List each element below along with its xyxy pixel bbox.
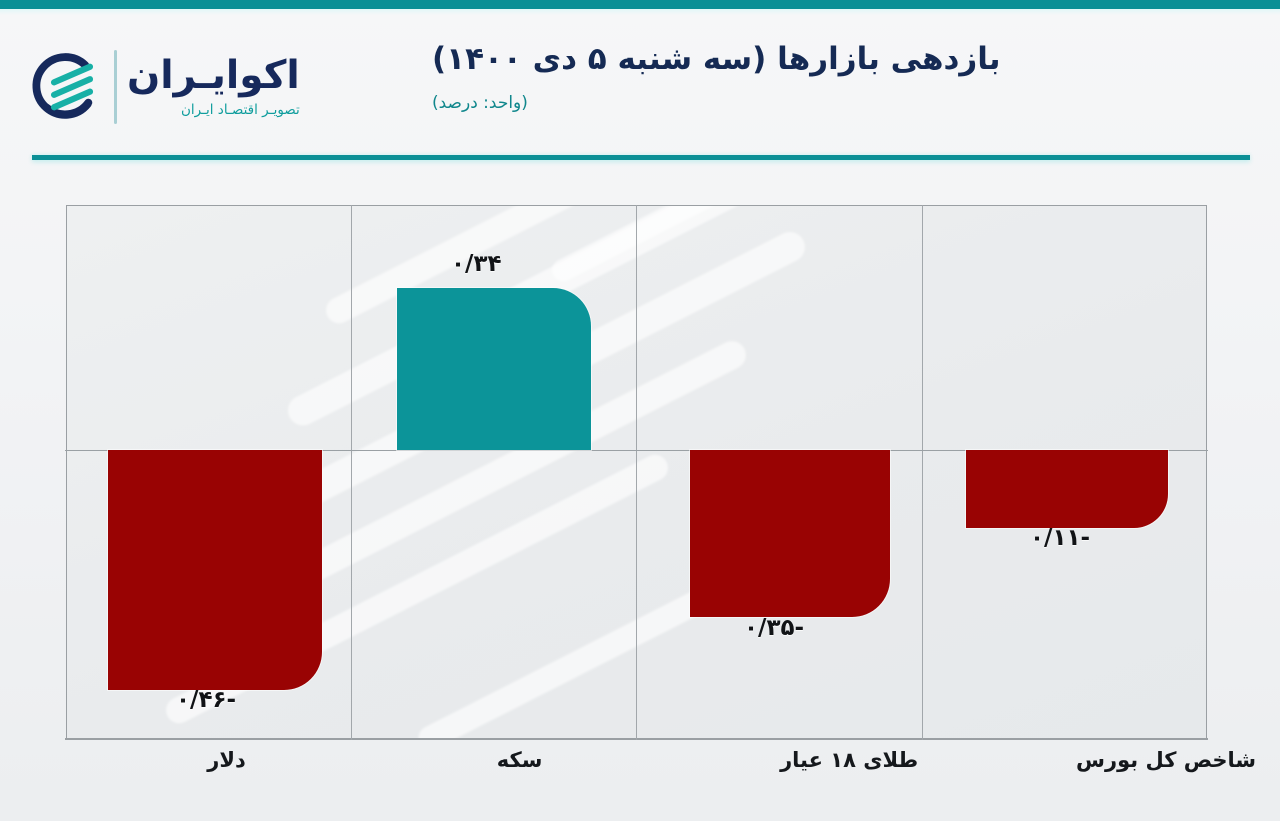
infographic-page: اکوایـران تصویـر اقتصـاد ایـران بازدهی ب… [0, 0, 1280, 821]
logo-title: اکوایـران [127, 56, 300, 97]
chart-plot-area: -۰/۴۶ ۰/۳۴ -۰/۳۵ -۰/۱۱ [66, 205, 1207, 740]
category-separator [922, 205, 923, 740]
bar-label-coin: ۰/۳۴ [451, 251, 502, 277]
logo-divider [114, 50, 117, 124]
category-separator [351, 205, 352, 740]
bar-dollar[interactable] [108, 450, 322, 690]
brand-logo: اکوایـران تصویـر اقتصـاد ایـران [26, 37, 326, 137]
header-divider [32, 155, 1250, 160]
category-label-bourse-index: شاخص کل بورس [1076, 748, 1256, 772]
category-label-coin: سکه [497, 748, 543, 772]
bar-label-dollar: -۰/۴۶ [176, 687, 236, 713]
chart-title: بازدهی بازارها (سه شنبه ۵ دی ۱۴۰۰) [432, 39, 1252, 81]
category-label-dollar: دلار [207, 748, 246, 772]
category-label-gold18: طلای ۱۸ عیار [780, 748, 918, 772]
chart-subtitle: (واحد: درصد) [432, 93, 1252, 113]
bar-label-gold18: -۰/۳۵ [744, 615, 804, 641]
title-block: بازدهی بازارها (سه شنبه ۵ دی ۱۴۰۰) (واحد… [432, 39, 1252, 113]
logo-subtitle: تصویـر اقتصـاد ایـران [181, 102, 300, 118]
logo-wordmark: اکوایـران تصویـر اقتصـاد ایـران [127, 56, 306, 119]
bar-bourse-index[interactable] [966, 450, 1168, 528]
header: اکوایـران تصویـر اقتصـاد ایـران بازدهی ب… [0, 15, 1280, 160]
bar-gold18[interactable] [690, 450, 890, 617]
category-separator [636, 205, 637, 740]
top-accent-bar [0, 0, 1280, 9]
category-axis-labels: دلار سکه طلای ۱۸ عیار شاخص کل بورس [66, 748, 1207, 796]
bar-coin[interactable] [397, 288, 591, 450]
eco-iran-swoosh-logo-icon [26, 48, 104, 126]
bar-label-bourse-index: -۰/۱۱ [1030, 525, 1090, 551]
